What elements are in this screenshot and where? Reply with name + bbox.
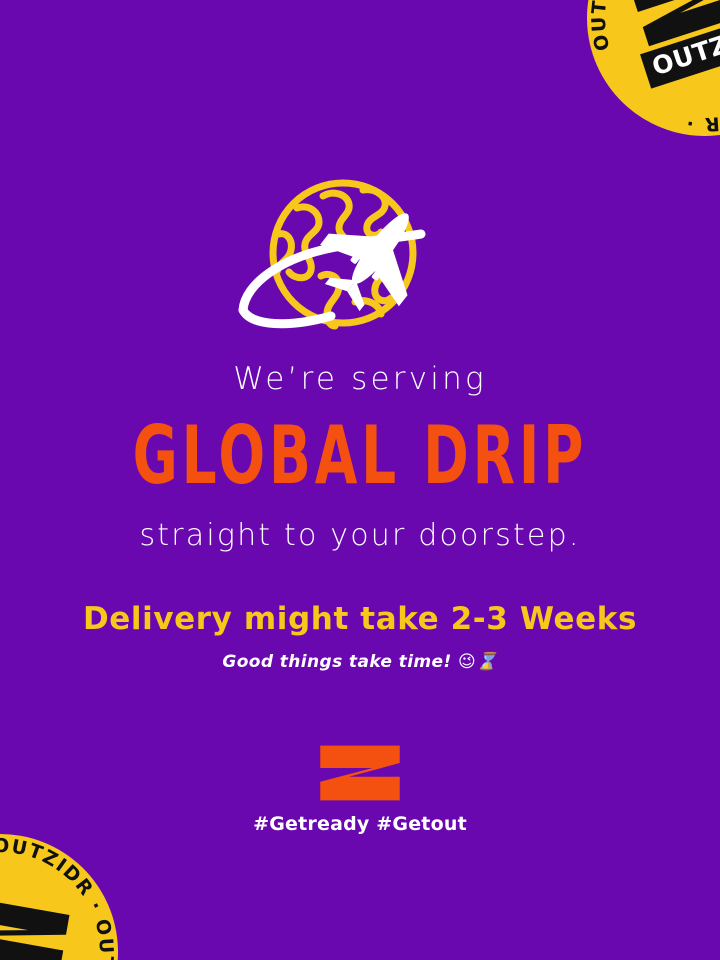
footer-lockup: #Getready #Getout xyxy=(0,744,720,835)
copy-block: We’re serving GLOBAL DRIP straight to yo… xyxy=(0,362,720,672)
promo-poster: OUTZIDR · OUTZIDR · OUTZIDR · OUTZIDR · … xyxy=(0,0,720,960)
brand-badge-bottom-left: OUTZIDR · OUTZIDR · OUTZIDR · OUTZIDR · … xyxy=(0,815,137,960)
page-title: GLOBAL DRIP xyxy=(11,406,709,507)
delivery-notice-text: Delivery might take 2-3 Weeks xyxy=(0,602,720,636)
outzidr-z-logo-icon xyxy=(319,744,401,802)
brand-badge-top-right: OUTZIDR · OUTZIDR · OUTZIDR · OUTZIDR · … xyxy=(556,0,720,167)
subheadline-text: straight to your doorstep. xyxy=(0,519,720,552)
eyebrow-text: We’re serving xyxy=(0,362,720,396)
globe-airplane-illustration xyxy=(235,176,485,346)
reassurance-text: Good things take time! 😉⌛ xyxy=(0,653,720,672)
orbit-trail-lower xyxy=(243,310,331,324)
footer-hashtags: #Getready #Getout xyxy=(0,813,720,835)
